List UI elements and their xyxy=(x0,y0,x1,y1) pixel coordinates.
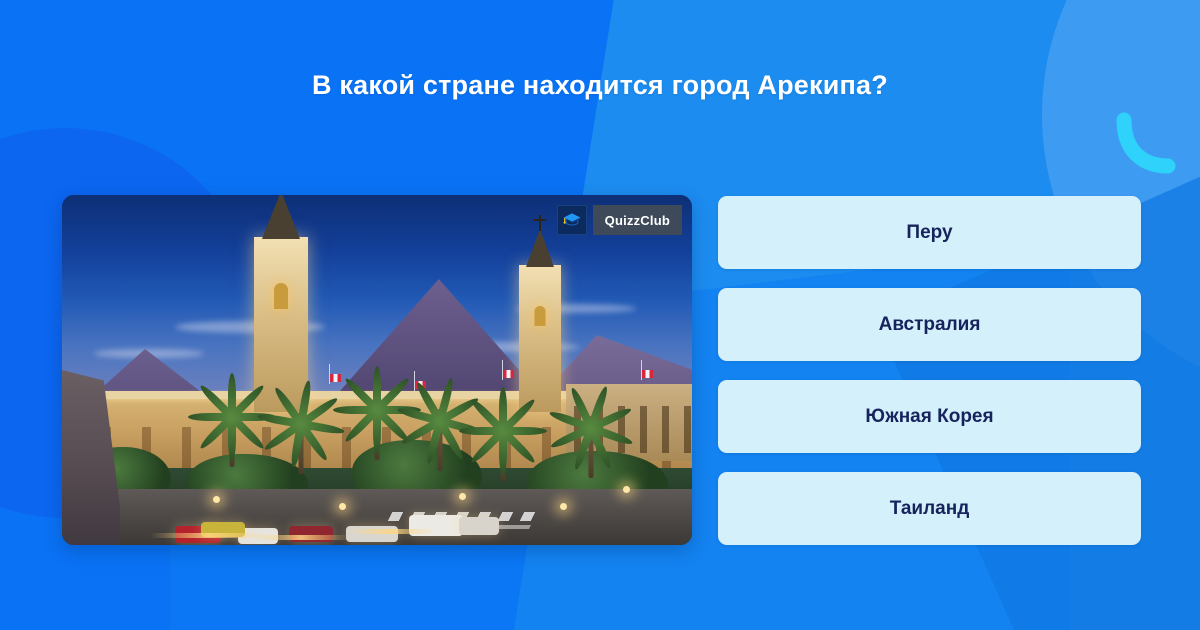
answer-option-3[interactable]: Южная Корея xyxy=(718,380,1141,453)
light-trail xyxy=(346,529,436,534)
quizzclub-watermark: QuizzClub xyxy=(557,205,682,235)
watermark-label: QuizzClub xyxy=(593,205,682,235)
graduation-cap-icon xyxy=(557,205,587,235)
tower-spire xyxy=(526,229,554,267)
cross-icon xyxy=(539,215,541,231)
light-trail xyxy=(251,535,351,540)
swoosh-icon xyxy=(1112,112,1182,182)
peru-flag xyxy=(642,370,653,378)
vehicle xyxy=(459,517,499,535)
answer-option-2[interactable]: Австралия xyxy=(718,288,1141,361)
tower-window xyxy=(534,306,545,326)
street-lamp-glow xyxy=(623,486,630,493)
question-image-card: QuizzClub xyxy=(62,195,692,545)
answer-option-4[interactable]: Таиланд xyxy=(718,472,1141,545)
street-lamp-glow xyxy=(459,493,466,500)
page-title: В какой стране находится город Арекипа? xyxy=(0,70,1200,101)
cathedral-tower-second xyxy=(519,265,561,412)
answer-option-label: Южная Корея xyxy=(865,406,993,428)
answer-options-list: Перу Австралия Южная Корея Таиланд xyxy=(718,196,1141,545)
tower-window xyxy=(274,283,288,309)
answer-option-label: Таиланд xyxy=(890,498,970,520)
street-lamp-glow xyxy=(560,503,567,510)
arequipa-photo xyxy=(62,195,692,545)
answer-option-1[interactable]: Перу xyxy=(718,196,1141,269)
question-card-page: В какой стране находится город Арекипа? xyxy=(0,0,1200,630)
answer-option-label: Австралия xyxy=(879,314,981,336)
peru-flag xyxy=(503,370,514,378)
answer-option-label: Перу xyxy=(906,222,952,244)
tower-spire xyxy=(262,195,300,239)
road xyxy=(62,489,692,545)
